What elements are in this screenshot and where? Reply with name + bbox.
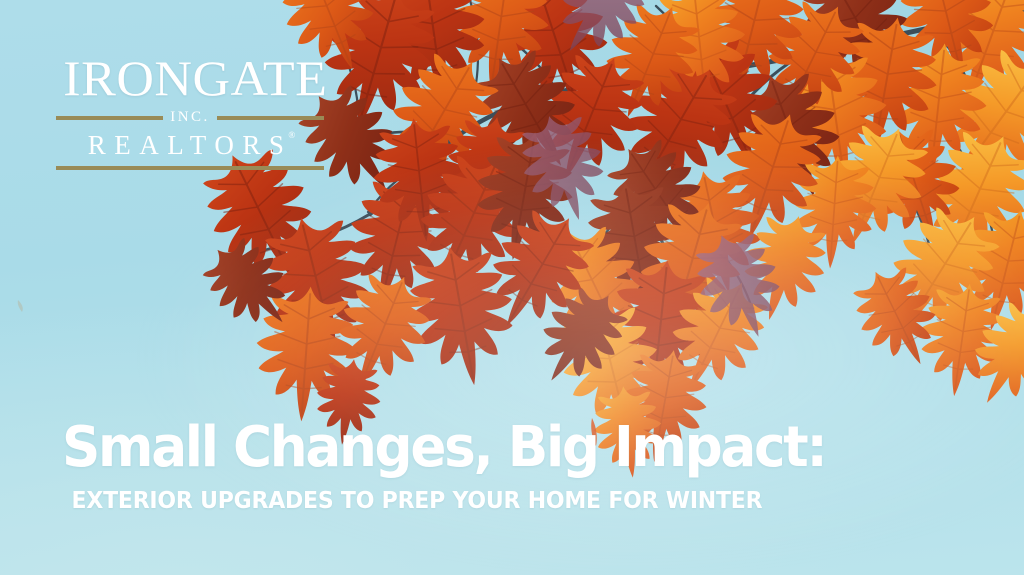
logo-rule-bottom (56, 166, 324, 170)
registered-trademark-icon: ® (288, 130, 295, 140)
poster-canvas: IRONGATE INC. REALTORS® Small Changes, B… (0, 0, 1024, 575)
logo-inc-text: INC. (170, 110, 210, 125)
hero-subheadline: EXTERIOR UPGRADES TO PREP YOUR HOME FOR … (62, 490, 922, 513)
logo-realtors-text: REALTORS (88, 130, 293, 160)
logo-rule-right (217, 116, 324, 120)
hero-text-block: Small Changes, Big Impact: EXTERIOR UPGR… (62, 420, 962, 513)
hero-headline: Small Changes, Big Impact: (62, 420, 917, 476)
logo-wordmark: IRONGATE (56, 54, 335, 102)
logo-rule-left (56, 116, 163, 120)
logo-inc-row: INC. (56, 110, 324, 125)
logo-realtors-row: REALTORS® (56, 130, 324, 161)
irongate-logo[interactable]: IRONGATE INC. REALTORS® (56, 54, 324, 170)
